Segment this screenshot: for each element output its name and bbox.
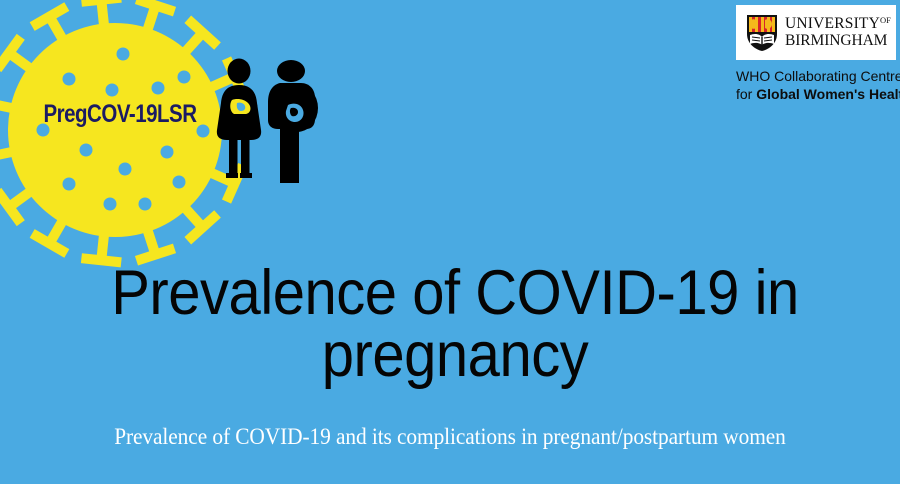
birmingham-crest-icon xyxy=(746,14,778,52)
university-logo-block: UNIVERSITYOF BIRMINGHAM WHO Collaboratin… xyxy=(736,5,898,104)
who-line-2: for Global Women's Health xyxy=(736,86,898,104)
who-line-2-prefix: for xyxy=(736,86,756,102)
university-logo-box: UNIVERSITYOF BIRMINGHAM xyxy=(736,5,896,60)
page-subtitle: Prevalence of COVID-19 and its complicat… xyxy=(50,424,850,450)
pregcov-logo: PregCOV-19LSR xyxy=(0,0,245,277)
who-collaborating-centre-text: WHO Collaborating Centre for Global Wome… xyxy=(736,68,898,104)
mother-with-baby-icon xyxy=(217,59,261,179)
mother-and-pregnant-woman-pictogram xyxy=(210,58,325,193)
figures-group xyxy=(210,58,325,193)
university-of-superscript: OF xyxy=(880,15,891,25)
university-wordmark: UNIVERSITYOF BIRMINGHAM xyxy=(785,16,891,49)
coronavirus-icon xyxy=(0,0,245,277)
banner-root: PregCOV-19LSR xyxy=(0,0,900,484)
virus-label: PregCOV-19LSR xyxy=(18,100,223,129)
who-line-1: WHO Collaborating Centre xyxy=(736,68,898,86)
who-line-2-bold: Global Women's Health xyxy=(756,86,900,102)
university-name-line1: UNIVERSITYOF xyxy=(785,16,891,32)
university-name-line2: BIRMINGHAM xyxy=(785,33,891,49)
page-title: Prevalence of COVID-19 in pregnancy xyxy=(92,262,819,387)
